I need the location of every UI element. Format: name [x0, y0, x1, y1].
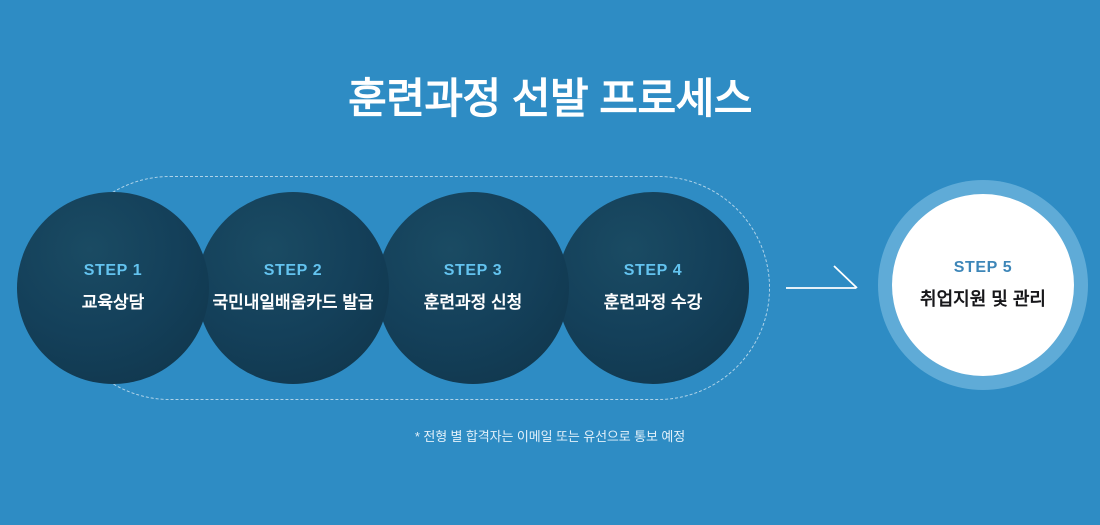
- footnote-text: * 전형 별 합격자는 이메일 또는 유선으로 통보 예정: [0, 426, 1100, 445]
- step-circle-4[interactable]: STEP 4 훈련과정 수강: [557, 192, 749, 384]
- step-1-label: STEP 1: [84, 262, 142, 280]
- process-diagram: 훈련과정 선발 프로세스 STEP 1 교육상담 STEP 2 국민내일배움카드…: [0, 0, 1100, 525]
- step-circle-3[interactable]: STEP 3 훈련과정 신청: [377, 192, 569, 384]
- step-1-text: 교육상담: [28, 292, 198, 314]
- step-2-label: STEP 2: [264, 262, 322, 280]
- step-3-text: 훈련과정 신청: [388, 292, 558, 314]
- step-4-text: 훈련과정 수강: [568, 292, 738, 314]
- step-4-label: STEP 4: [624, 262, 682, 280]
- step-circle-2[interactable]: STEP 2 국민내일배움카드 발급: [197, 192, 389, 384]
- step-circle-1[interactable]: STEP 1 교육상담: [17, 192, 209, 384]
- step-3-label: STEP 3: [444, 262, 502, 280]
- step-5-text: 취업지원 및 관리: [899, 288, 1067, 312]
- step-5-label: STEP 5: [954, 259, 1012, 277]
- step-circle-5[interactable]: STEP 5 취업지원 및 관리: [878, 180, 1088, 390]
- page-title: 훈련과정 선발 프로세스: [0, 76, 1100, 122]
- step-2-text: 국민내일배움카드 발급: [208, 292, 378, 314]
- step-5-inner: STEP 5 취업지원 및 관리: [892, 194, 1074, 376]
- arrow-right-icon: [786, 258, 862, 298]
